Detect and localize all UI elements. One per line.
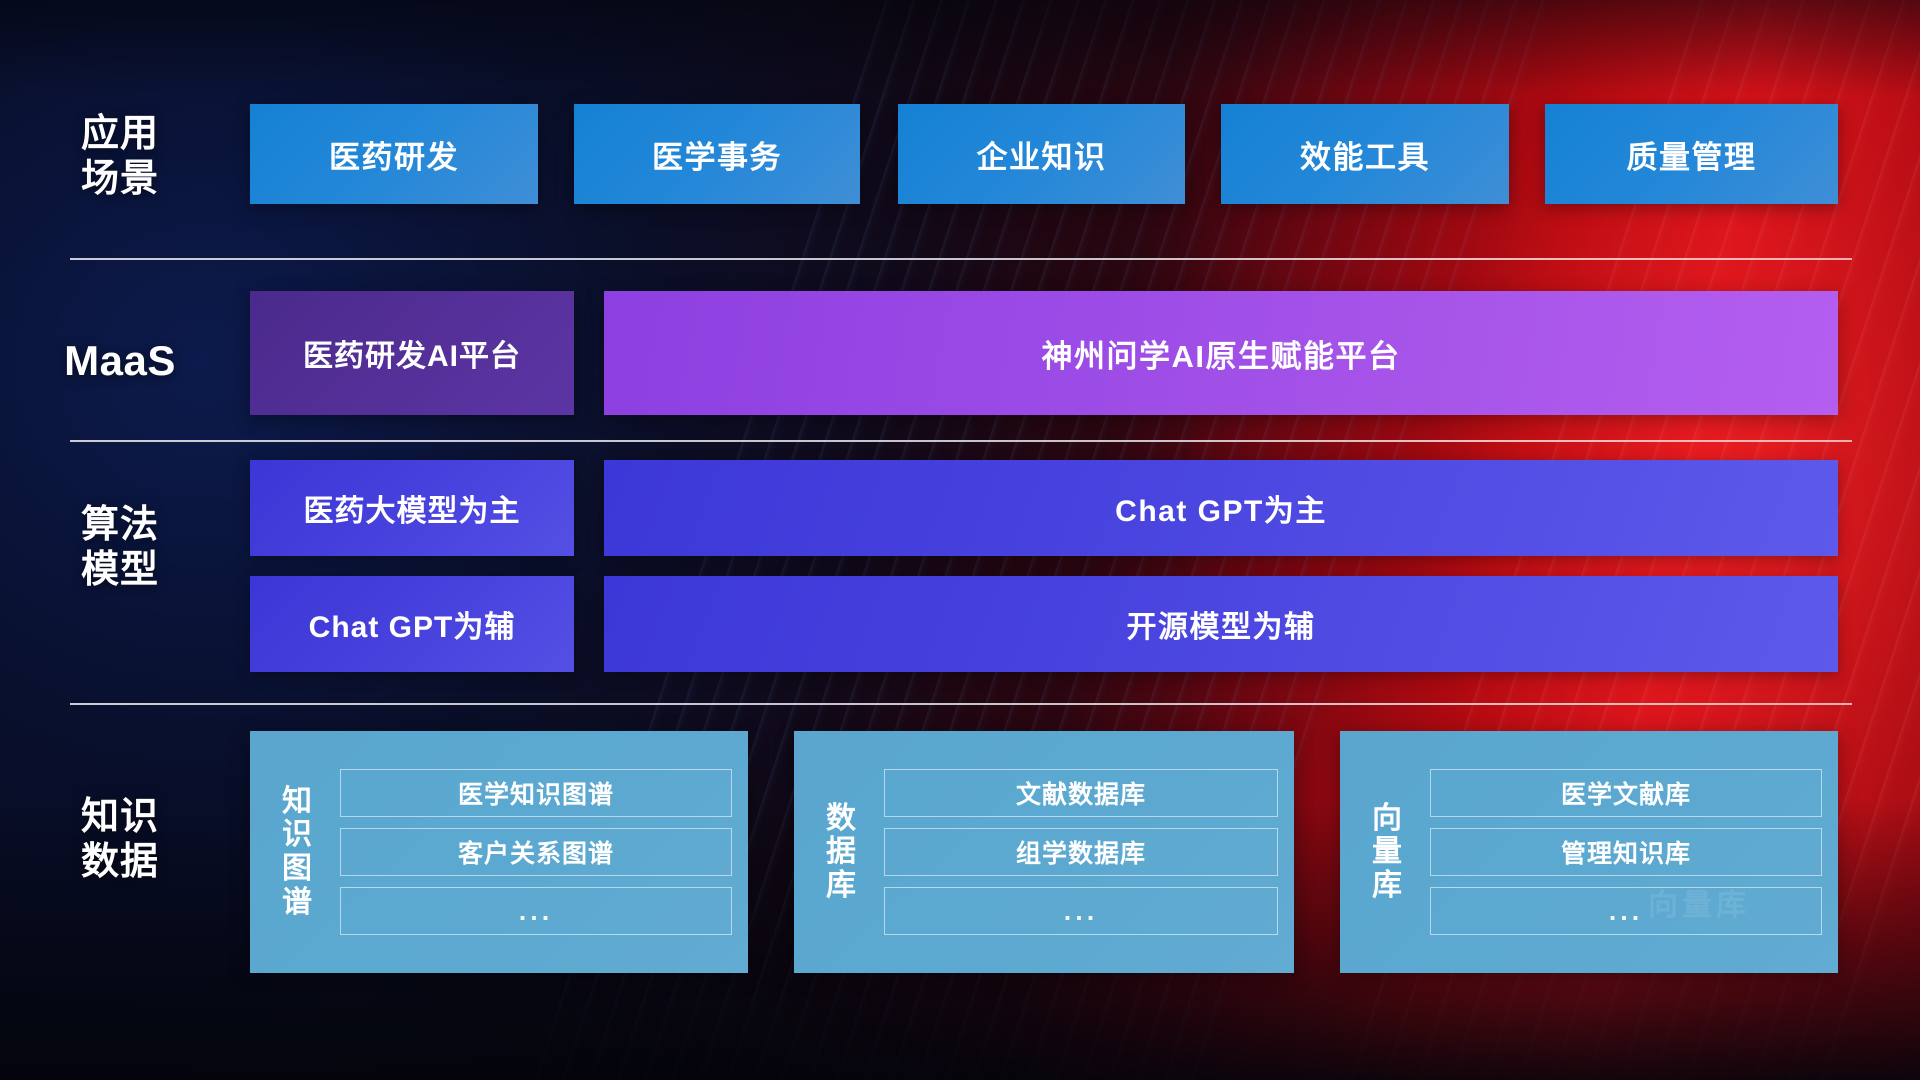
app-card-label: 医学事务 — [652, 132, 782, 177]
app-card-efficiency-tools[interactable]: 效能工具 — [1221, 104, 1509, 204]
maas-card-label: 医药研发AI平台 — [303, 331, 521, 375]
knowledge-item[interactable]: 医学文献库 — [1430, 769, 1822, 817]
row-label-maas: MaaS — [22, 336, 218, 386]
knowledge-item-more[interactable]: ... — [1430, 887, 1822, 935]
knowledge-item[interactable]: 客户关系图谱 — [340, 828, 732, 876]
algo-card-opensource-secondary[interactable]: 开源模型为辅 — [604, 576, 1838, 672]
architecture-diagram: 应用 场景 医药研发 医学事务 企业知识 效能工具 质量管理 MaaS 医药研发… — [0, 0, 1920, 1080]
knowledge-card-item-list: 医学知识图谱 客户关系图谱 ... — [340, 769, 732, 935]
algo-card-chatgpt-primary[interactable]: Chat GPT为主 — [604, 460, 1838, 556]
maas-card-shenzhou-wenxue-platform[interactable]: 神州问学AI原生赋能平台 — [604, 291, 1838, 415]
algo-card-label: Chat GPT为主 — [1115, 486, 1327, 530]
knowledge-card-vertical-label: 知 识 图 谱 — [268, 785, 326, 919]
app-card-enterprise-knowledge[interactable]: 企业知识 — [898, 104, 1185, 204]
knowledge-item-more[interactable]: ... — [884, 887, 1278, 935]
knowledge-card-vertical-label: 数 据 库 — [812, 802, 870, 903]
app-card-medical-affairs[interactable]: 医学事务 — [574, 104, 860, 204]
app-card-quality-management[interactable]: 质量管理 — [1545, 104, 1838, 204]
divider-after-maas — [70, 440, 1852, 442]
app-card-label: 企业知识 — [977, 132, 1107, 177]
app-card-pharma-rd[interactable]: 医药研发 — [250, 104, 538, 204]
algo-card-pharma-llm-primary[interactable]: 医药大模型为主 — [250, 460, 574, 556]
maas-card-label: 神州问学AI原生赋能平台 — [1042, 331, 1401, 376]
algo-card-label: 医药大模型为主 — [304, 486, 521, 530]
app-card-label: 医药研发 — [329, 132, 459, 177]
app-card-label: 效能工具 — [1300, 132, 1430, 177]
algo-card-label: 开源模型为辅 — [1127, 602, 1316, 646]
maas-card-pharma-ai-platform[interactable]: 医药研发AI平台 — [250, 291, 574, 415]
algo-card-chatgpt-secondary[interactable]: Chat GPT为辅 — [250, 576, 574, 672]
knowledge-card-database[interactable]: 数 据 库 文献数据库 组学数据库 ... — [794, 731, 1294, 973]
knowledge-card-vertical-label: 向 量 库 — [1358, 802, 1416, 903]
knowledge-item-more[interactable]: ... — [340, 887, 732, 935]
knowledge-item[interactable]: 文献数据库 — [884, 769, 1278, 817]
knowledge-card-vector-store[interactable]: 向 量 库 医学文献库 管理知识库 ... — [1340, 731, 1838, 973]
app-card-label: 质量管理 — [1627, 132, 1757, 177]
knowledge-card-knowledge-graph[interactable]: 知 识 图 谱 医学知识图谱 客户关系图谱 ... — [250, 731, 748, 973]
row-label-algorithm-model: 算法 模型 — [22, 503, 218, 593]
knowledge-card-item-list: 医学文献库 管理知识库 ... — [1430, 769, 1822, 935]
algo-card-label: Chat GPT为辅 — [309, 602, 516, 646]
row-label-knowledge-data: 知识 数据 — [22, 795, 218, 885]
knowledge-item[interactable]: 医学知识图谱 — [340, 769, 732, 817]
divider-after-algorithm-model — [70, 703, 1852, 705]
knowledge-item[interactable]: 管理知识库 — [1430, 828, 1822, 876]
divider-after-application-scenarios — [70, 258, 1852, 260]
knowledge-item[interactable]: 组学数据库 — [884, 828, 1278, 876]
knowledge-card-item-list: 文献数据库 组学数据库 ... — [884, 769, 1278, 935]
row-label-application-scenarios: 应用 场景 — [22, 112, 218, 202]
